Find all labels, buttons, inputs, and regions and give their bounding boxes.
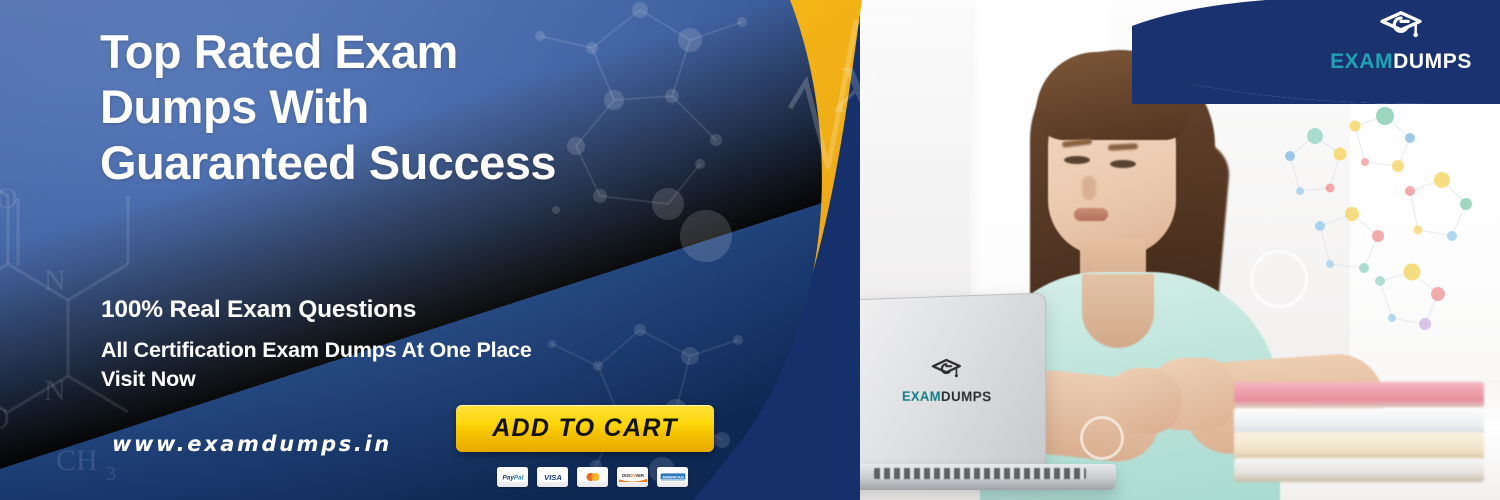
payment-methods-row: PayPal VISA DIS: [497, 467, 688, 487]
payment-icon-visa[interactable]: VISA: [537, 467, 568, 487]
banner-content: Top Rated Exam Dumps With Guaranteed Suc…: [0, 0, 780, 500]
paypal-icon: PayPal: [499, 471, 527, 483]
brand-dumps: DUMPS: [1393, 50, 1472, 73]
svg-text:VISA: VISA: [544, 473, 562, 482]
graduation-cap-icon: [1378, 10, 1424, 46]
mastercard-icon: [579, 471, 607, 483]
svg-text:AMERICAN: AMERICAN: [662, 475, 684, 480]
payment-icon-discover[interactable]: DISCOVER: [617, 467, 648, 487]
svg-text:DISCOVER: DISCOVER: [622, 473, 644, 478]
brand-exam: EXAM: [1330, 50, 1393, 73]
svg-text:PayPal: PayPal: [502, 475, 523, 482]
visa-icon: VISA: [539, 471, 567, 483]
amex-icon: AMERICAN: [659, 471, 687, 483]
page-title: Top Rated Exam Dumps With Guaranteed Suc…: [100, 24, 570, 190]
math-x-glyph: x: [834, 26, 879, 133]
payment-icon-mastercard[interactable]: [577, 467, 608, 487]
brand-logo-badge[interactable]: EXAMDUMPS: [1132, 0, 1500, 104]
discover-icon: DISCOVER: [619, 471, 647, 483]
payment-icon-paypal[interactable]: PayPal: [497, 467, 528, 487]
add-to-cart-button[interactable]: ADD TO CART: [456, 405, 714, 452]
payment-icon-amex[interactable]: AMERICAN: [657, 467, 688, 487]
website-url: www.examdumps.in: [112, 432, 392, 456]
brand-logo-text: EXAMDUMPS: [1330, 50, 1472, 74]
examdumps-promo-banner: EXAMDUMPS: [0, 0, 1500, 500]
subheadline-secondary: All Certification Exam Dumps At One Plac…: [101, 336, 551, 393]
brand-logo: EXAMDUMPS: [1330, 10, 1472, 74]
subheadline-primary: 100% Real Exam Questions: [101, 296, 416, 324]
